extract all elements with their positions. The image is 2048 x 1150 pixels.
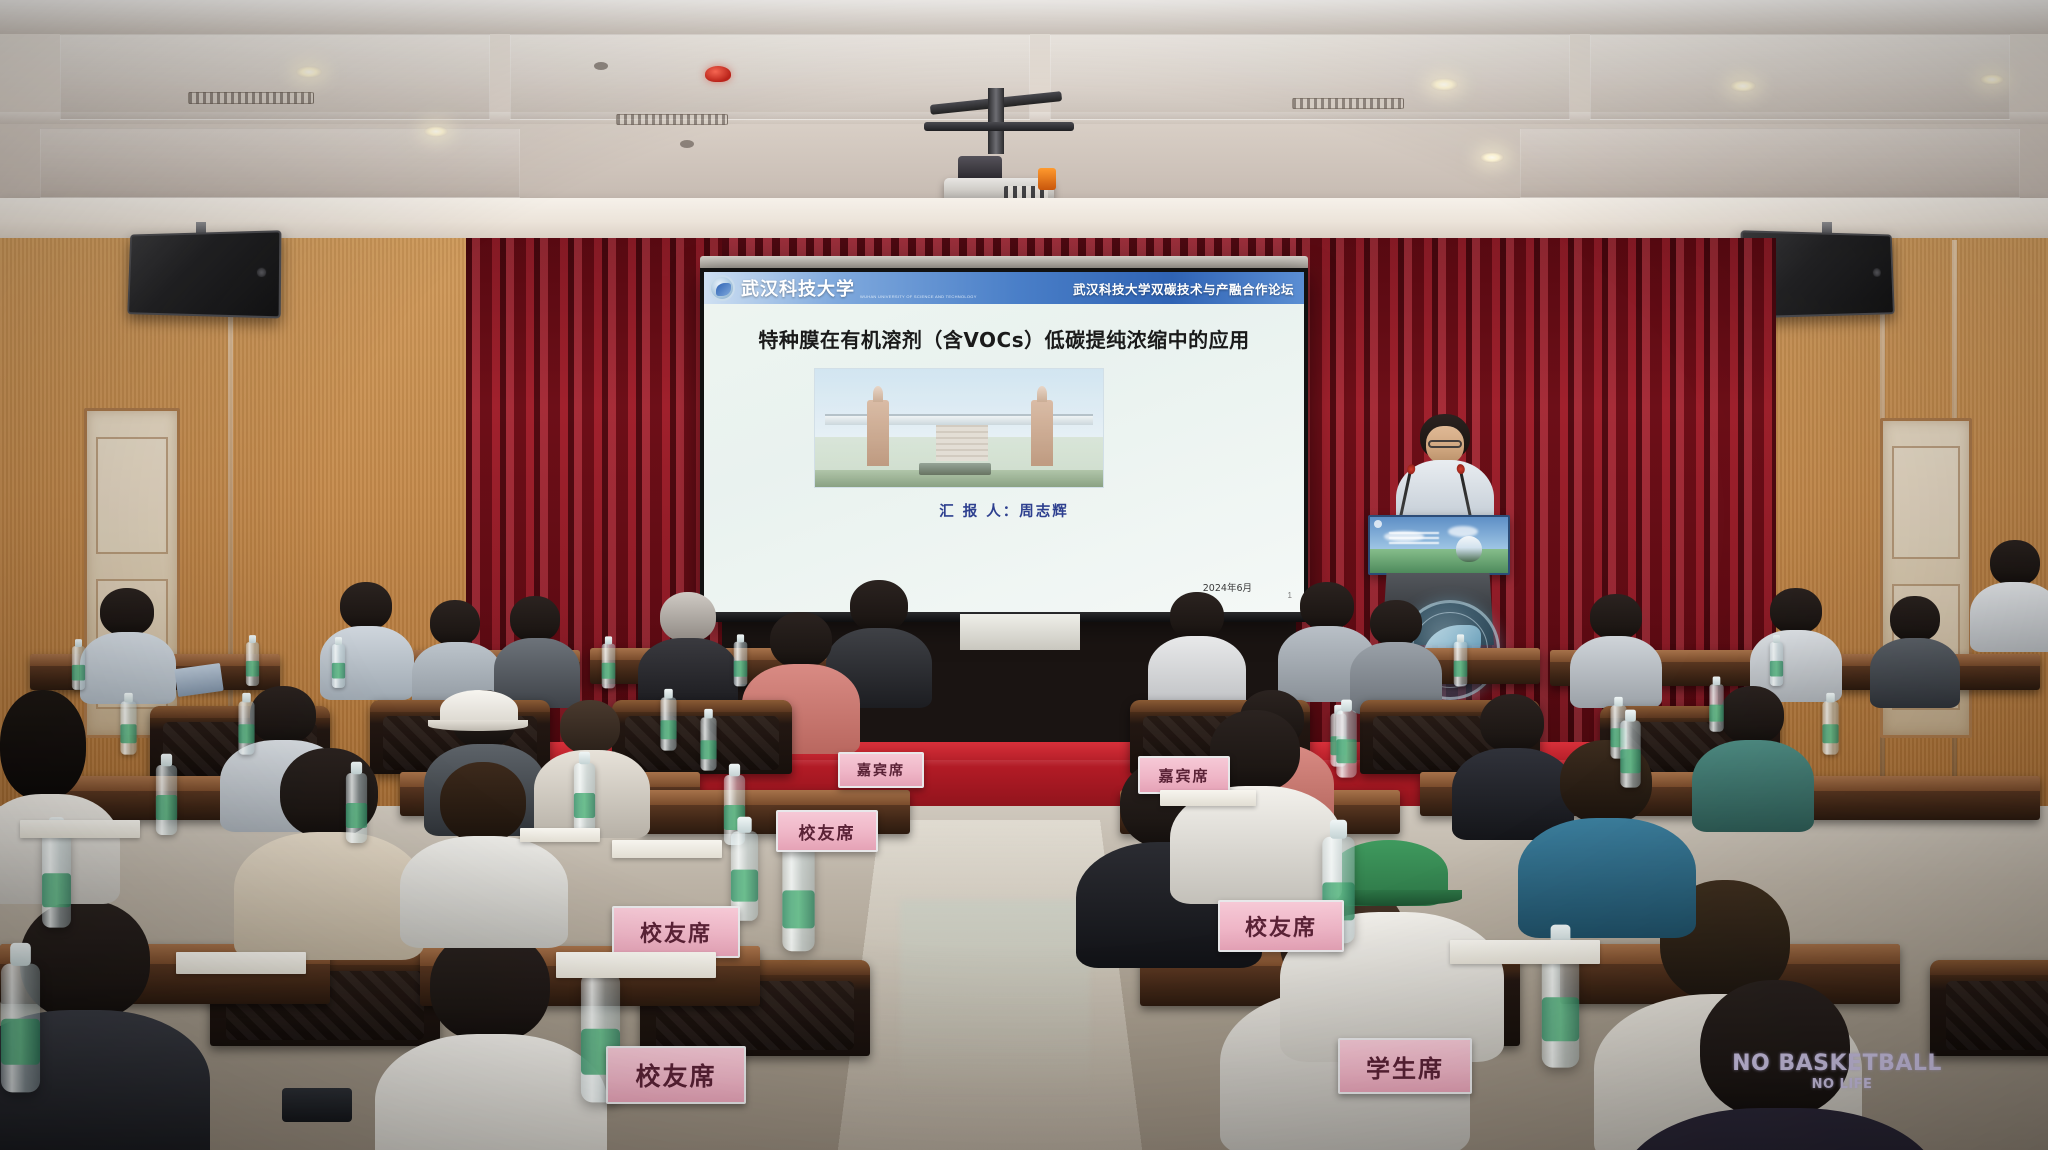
water-bottle[interactable] [1454,642,1468,687]
water-bottle[interactable] [1,964,40,1093]
notebook[interactable] [612,840,722,858]
water-bottle[interactable] [1709,684,1723,732]
water-bottle[interactable] [602,644,616,689]
water-bottle[interactable] [1336,710,1356,777]
placard-text: 学生席 [1366,1049,1444,1084]
pa-speaker-icon [127,230,281,318]
water-bottle[interactable] [1770,642,1783,686]
notebook[interactable] [176,952,306,974]
placard-text: 校友席 [799,819,856,844]
water-bottle[interactable] [1822,701,1838,754]
placard-alumni-seats: 校友席 [612,906,740,958]
water-bottle[interactable] [156,765,177,835]
water-bottle[interactable] [238,701,254,754]
placard-student-seats: 学生席 [1338,1038,1472,1094]
placard-text: 校友席 [640,916,712,948]
water-bottle[interactable] [346,773,367,843]
water-bottle[interactable] [246,642,259,686]
slide-date: 2024年6月 [1203,580,1252,594]
notebook[interactable] [20,820,140,838]
document-stack[interactable] [520,828,600,842]
fire-alarm-icon [705,66,731,82]
podium-banner [1368,515,1510,575]
placard-alumni-seats: 校友席 [776,810,878,852]
placard-alumni-seats: 校友席 [606,1046,746,1104]
stage-step [960,614,1080,650]
slide-university-name-cn: 武汉科技大学 [741,275,855,301]
water-bottle[interactable] [700,717,716,770]
slide-page-number: 1 [1288,591,1292,600]
floor-reflection [900,900,1090,1100]
slide-forum-title: 武汉科技大学双碳技术与产融合作论坛 [1073,279,1294,298]
slide-university-name-en: WUHAN UNIVERSITY OF SCIENCE AND TECHNOLO… [860,294,977,299]
university-crest-icon [709,275,735,301]
placard-alumni-seats: 校友席 [1218,900,1344,952]
water-bottle[interactable] [734,642,748,687]
podium-logo-icon [1374,520,1382,528]
water-bottle[interactable] [660,697,676,750]
water-bottle[interactable] [42,832,71,927]
hoodie-text-line2: NO LIFE [1772,1078,1912,1092]
placard-text: 嘉宾席 [1158,765,1209,786]
notebook[interactable] [1160,790,1256,806]
slide-header-band: 武汉科技大学 WUHAN UNIVERSITY OF SCIENCE AND T… [704,272,1304,304]
hoodie-text-line1: NO BASKETBALL [1712,1052,1962,1075]
placard-text: 校友席 [1245,910,1317,942]
slide-main-title: 特种膜在有机溶剂（含VOCs）低碳提纯浓缩中的应用 [704,324,1304,353]
chair[interactable] [1930,960,2048,1056]
notebook[interactable] [556,952,716,978]
placard-guest-seats: 嘉宾席 [1138,756,1230,794]
water-bottle[interactable] [332,644,345,688]
water-bottle[interactable] [72,646,85,690]
water-bottle[interactable] [574,763,595,833]
water-bottle[interactable] [120,701,136,754]
placard-guest-seats: 嘉宾席 [838,752,924,788]
projection-screen[interactable]: 武汉科技大学 WUHAN UNIVERSITY OF SCIENCE AND T… [700,268,1308,616]
water-bottle[interactable] [782,845,814,951]
conference-hall-scene: 武汉科技大学 WUHAN UNIVERSITY OF SCIENCE AND T… [0,0,2048,1150]
placard-text: 嘉宾席 [857,760,905,780]
water-bottle[interactable] [1620,720,1640,787]
notebook[interactable] [1450,940,1600,964]
placard-text: 校友席 [635,1057,716,1093]
presentation-slide: 武汉科技大学 WUHAN UNIVERSITY OF SCIENCE AND T… [704,272,1304,612]
phone-device[interactable] [282,1088,352,1122]
campus-gate-photo [814,368,1104,488]
slide-presenter-line: 汇 报 人：周志辉 [704,500,1304,521]
